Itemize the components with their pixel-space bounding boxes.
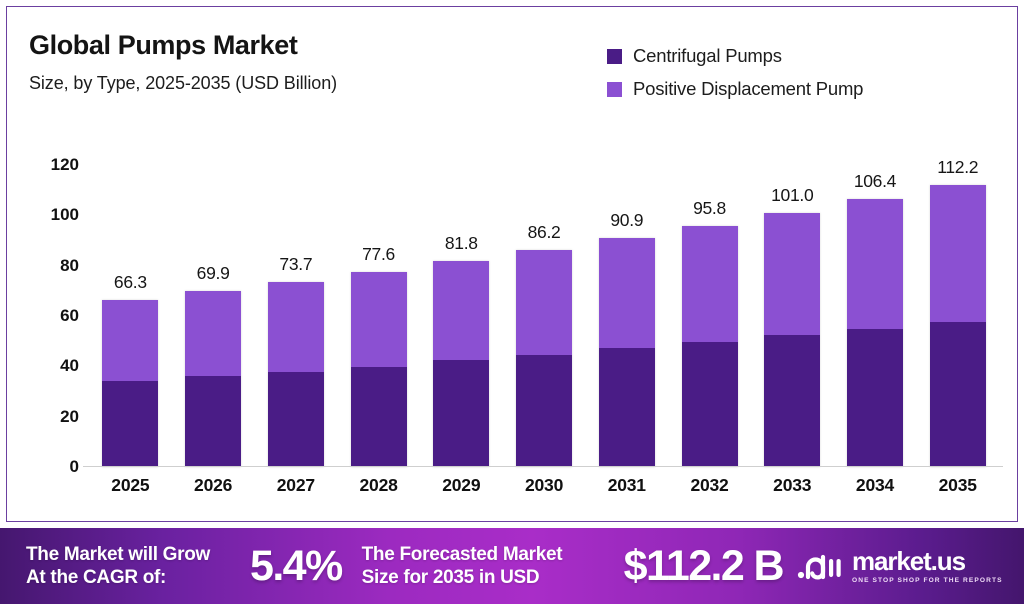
bar-column[interactable]: 101.0 [751,165,834,467]
bar-value-label: 77.6 [362,244,395,265]
x-axis-tick: 2032 [668,475,751,509]
legend-label: Positive Displacement Pump [633,78,863,100]
stacked-bar[interactable] [682,226,738,467]
x-axis-tick: 2035 [916,475,999,509]
x-axis-tick: 2034 [834,475,917,509]
stacked-bar[interactable] [930,185,986,467]
bar-segment-positive-displacement-pump[interactable] [185,291,241,376]
bar-segment-centrifugal-pumps[interactable] [185,376,241,467]
bar-value-label: 81.8 [445,233,478,254]
stacked-bar[interactable] [516,250,572,467]
legend-item-centrifugal-pumps[interactable]: Centrifugal Pumps [607,45,863,67]
bar-segment-positive-displacement-pump[interactable] [433,261,489,360]
y-axis-tick: 20 [60,407,79,427]
brand-tagline: ONE STOP SHOP FOR THE REPORTS [852,577,1003,584]
brand-name: market.us [852,548,1003,574]
infographic-root: Global Pumps Market Size, by Type, 2025-… [0,0,1024,616]
stacked-bar[interactable] [351,272,407,467]
x-axis-tick: 2029 [420,475,503,509]
forecast-size-label-line2: Size for 2035 in USD [362,566,618,589]
x-axis: 2025202620272028202920302031203220332034… [89,475,999,509]
bar-column[interactable]: 86.2 [503,165,586,467]
forecast-size-value: $112.2 B [624,542,783,591]
bar-value-label: 101.0 [771,185,813,206]
bar-segment-centrifugal-pumps[interactable] [268,372,324,467]
cagr-label: The Market will Grow At the CAGR of: [26,543,240,589]
stacked-bar[interactable] [268,282,324,467]
chart-title: Global Pumps Market [29,31,337,61]
bar-segment-centrifugal-pumps[interactable] [682,342,738,467]
bar-segment-centrifugal-pumps[interactable] [930,322,986,467]
chart-header: Global Pumps Market Size, by Type, 2025-… [7,7,1017,127]
bar-column[interactable]: 112.2 [916,165,999,467]
bar-segment-centrifugal-pumps[interactable] [102,381,158,467]
y-axis-tick: 60 [60,306,79,326]
bar-value-label: 112.2 [937,157,978,178]
stacked-bar[interactable] [847,199,903,467]
chart-subtitle: Size, by Type, 2025-2035 (USD Billion) [29,73,337,94]
legend-swatch-icon [607,82,622,97]
bar-column[interactable]: 95.8 [668,165,751,467]
forecast-size-label: The Forecasted Market Size for 2035 in U… [362,543,618,589]
bar-segment-positive-displacement-pump[interactable] [764,213,820,335]
x-axis-tick: 2028 [337,475,420,509]
brand-text: market.us ONE STOP SHOP FOR THE REPORTS [852,548,1003,584]
legend-item-positive-displacement-pump[interactable]: Positive Displacement Pump [607,78,863,100]
bar-segment-positive-displacement-pump[interactable] [682,226,738,342]
bar-segment-positive-displacement-pump[interactable] [516,250,572,354]
bar-column[interactable]: 90.9 [585,165,668,467]
bar-segment-centrifugal-pumps[interactable] [847,329,903,467]
bar-value-label: 106.4 [854,171,896,192]
forecast-size-label-line1: The Forecasted Market [362,543,618,566]
x-axis-tick: 2033 [751,475,834,509]
bar-segment-positive-displacement-pump[interactable] [102,300,158,381]
stacked-bar[interactable] [599,238,655,467]
title-block: Global Pumps Market Size, by Type, 2025-… [29,31,337,94]
y-axis-tick: 80 [60,256,79,276]
bar-column[interactable]: 73.7 [254,165,337,467]
bar-segment-positive-displacement-pump[interactable] [599,238,655,348]
bar-column[interactable]: 81.8 [420,165,503,467]
bar-value-label: 69.9 [197,263,230,284]
cagr-label-line2: At the CAGR of: [26,566,240,589]
bar-segment-positive-displacement-pump[interactable] [847,199,903,328]
bar-segment-positive-displacement-pump[interactable] [351,272,407,367]
x-axis-tick: 2031 [585,475,668,509]
y-axis-tick: 40 [60,356,79,376]
x-axis-tick: 2025 [89,475,172,509]
plot-region: 020406080100120 66.369.973.777.681.886.2… [7,127,1019,521]
plot-area: 66.369.973.777.681.886.290.995.8101.0106… [89,165,999,467]
bar-value-label: 73.7 [279,254,312,275]
bar-group: 66.369.973.777.681.886.290.995.8101.0106… [89,165,999,467]
bar-column[interactable]: 106.4 [834,165,917,467]
chart-legend: Centrifugal Pumps Positive Displacement … [607,45,863,111]
bar-column[interactable]: 69.9 [172,165,255,467]
chart-card: Global Pumps Market Size, by Type, 2025-… [6,6,1018,522]
bar-value-label: 90.9 [610,210,643,231]
bar-value-label: 86.2 [528,222,561,243]
bar-segment-centrifugal-pumps[interactable] [764,335,820,467]
x-axis-tick: 2030 [503,475,586,509]
bar-segment-centrifugal-pumps[interactable] [433,360,489,467]
cagr-value: 5.4% [250,542,342,591]
footer-banner: The Market will Grow At the CAGR of: 5.4… [0,528,1024,604]
y-axis: 020406080100120 [29,165,79,467]
axis-baseline [83,466,1003,468]
y-axis-tick: 120 [51,155,79,175]
bar-value-label: 95.8 [693,198,726,219]
bar-segment-positive-displacement-pump[interactable] [268,282,324,372]
stacked-bar[interactable] [185,291,241,467]
bar-segment-centrifugal-pumps[interactable] [516,355,572,467]
market-us-logomark-icon [797,551,843,581]
y-axis-tick: 0 [70,457,79,477]
stacked-bar[interactable] [102,300,158,467]
stacked-bar[interactable] [764,213,820,467]
bar-segment-centrifugal-pumps[interactable] [351,367,407,467]
x-axis-tick: 2027 [254,475,337,509]
bar-column[interactable]: 77.6 [337,165,420,467]
legend-label: Centrifugal Pumps [633,45,782,67]
bar-segment-centrifugal-pumps[interactable] [599,348,655,467]
x-axis-tick: 2026 [172,475,255,509]
bar-value-label: 66.3 [114,272,147,293]
cagr-label-line1: The Market will Grow [26,543,240,566]
y-axis-tick: 100 [51,205,79,225]
bar-column[interactable]: 66.3 [89,165,172,467]
brand-logo[interactable]: market.us ONE STOP SHOP FOR THE REPORTS [797,548,1003,584]
bar-segment-positive-displacement-pump[interactable] [930,185,986,323]
legend-swatch-icon [607,49,622,64]
stacked-bar[interactable] [433,261,489,467]
